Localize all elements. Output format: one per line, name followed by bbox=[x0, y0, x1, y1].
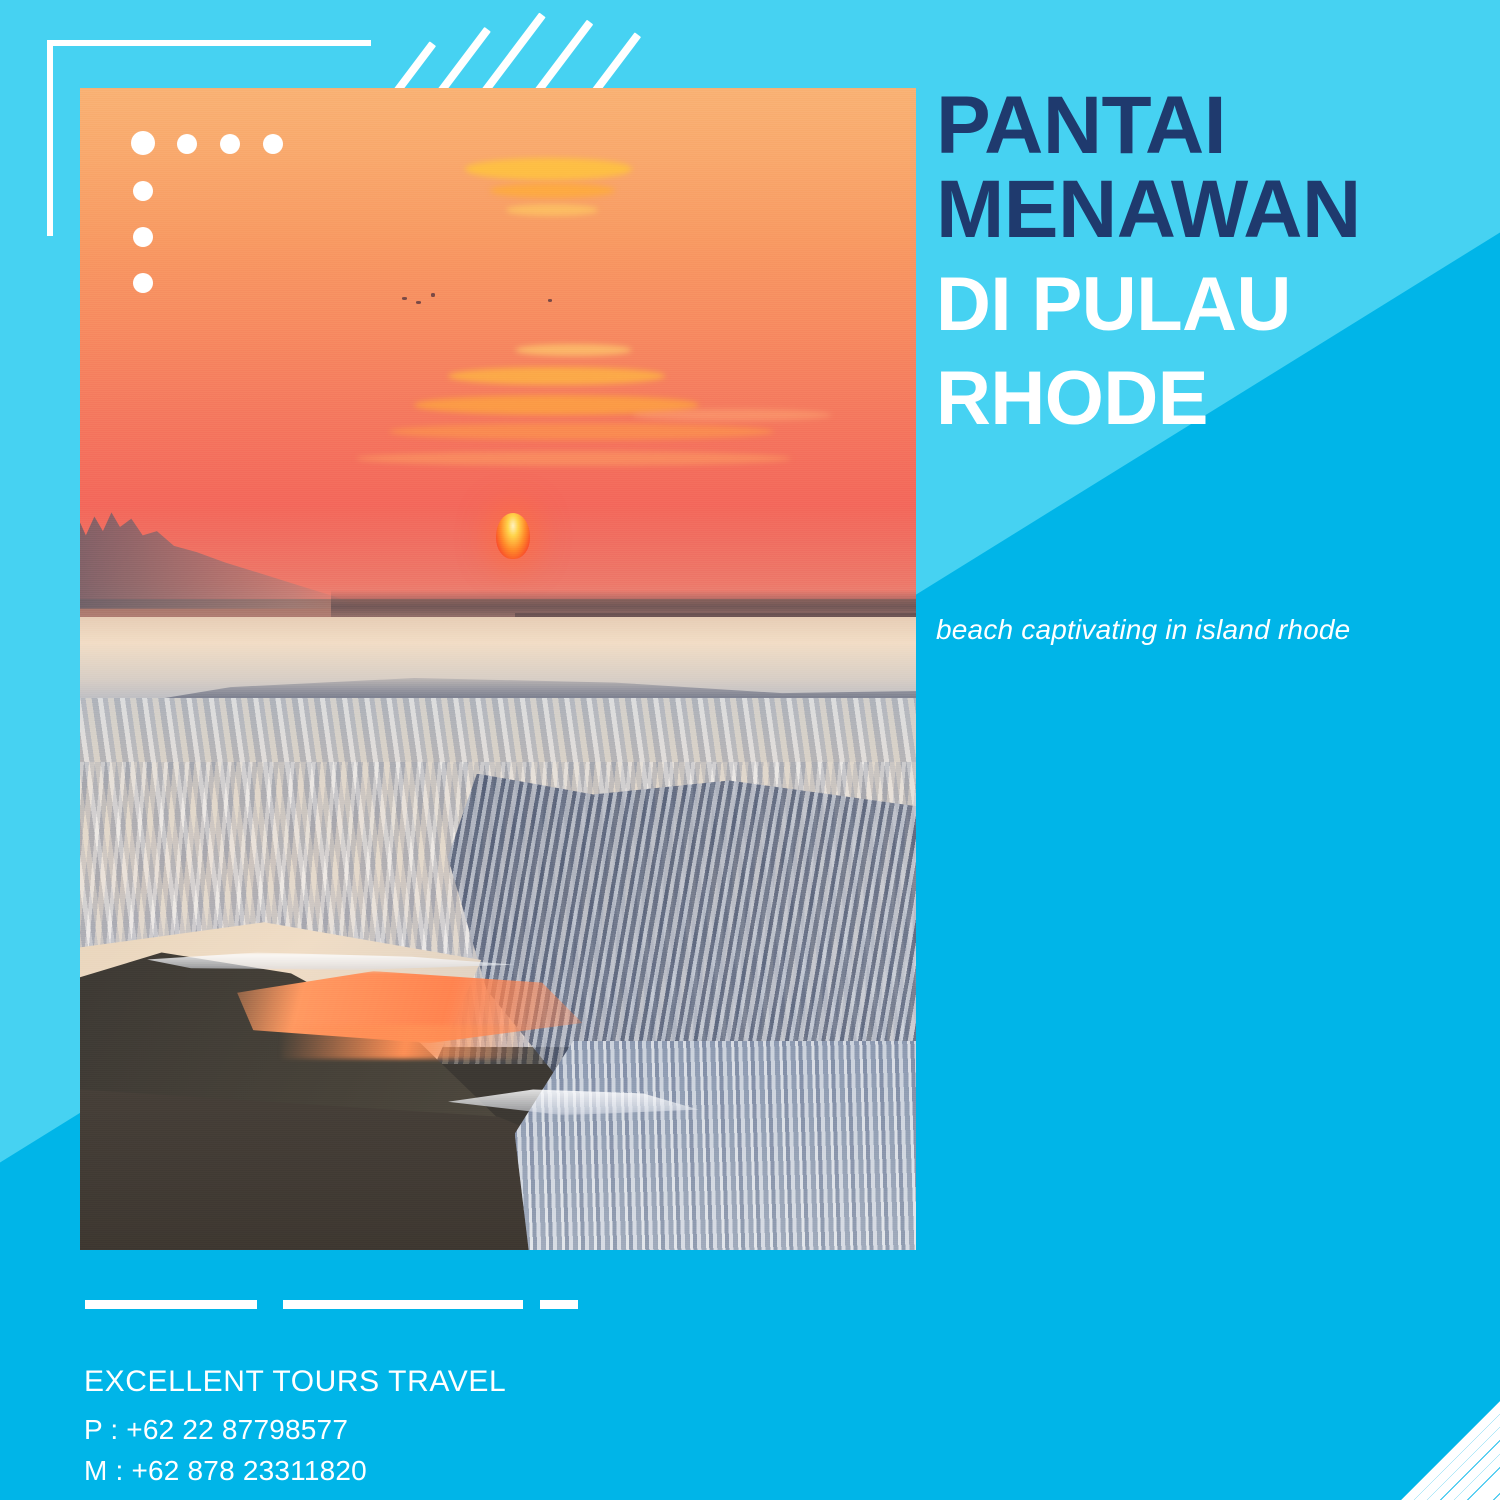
divider-dash bbox=[85, 1300, 257, 1309]
accent-dot bbox=[133, 273, 153, 293]
headline-line-2: MENAWAN bbox=[936, 168, 1492, 252]
company-name: EXCELLENT TOURS TRAVEL bbox=[84, 1364, 784, 1400]
accent-dot bbox=[220, 134, 240, 154]
dot-accent-pattern bbox=[80, 88, 916, 1250]
headline-line-4: RHODE bbox=[936, 359, 1492, 439]
dashed-divider bbox=[85, 1300, 645, 1309]
subtitle: beach captivating in island rhode bbox=[936, 612, 1428, 648]
headline-line-1: PANTAI bbox=[936, 84, 1492, 168]
divider-dash bbox=[283, 1300, 523, 1309]
accent-dot bbox=[177, 134, 197, 154]
mobile-number: M : +62 878 23311820 bbox=[84, 1451, 784, 1492]
hero-photo-sunset-beach bbox=[80, 88, 916, 1250]
phone-number: P : +62 22 87798577 bbox=[84, 1410, 784, 1451]
accent-dot bbox=[263, 134, 283, 154]
headline-line-3: DI PULAU bbox=[936, 265, 1492, 345]
contact-block: EXCELLENT TOURS TRAVEL P : +62 22 877985… bbox=[84, 1364, 784, 1491]
divider-dash bbox=[540, 1300, 578, 1309]
accent-dot bbox=[133, 227, 153, 247]
page-title: PANTAI MENAWAN DI PULAU RHODE bbox=[936, 84, 1492, 439]
accent-dot bbox=[131, 131, 155, 155]
accent-dot bbox=[133, 181, 153, 201]
